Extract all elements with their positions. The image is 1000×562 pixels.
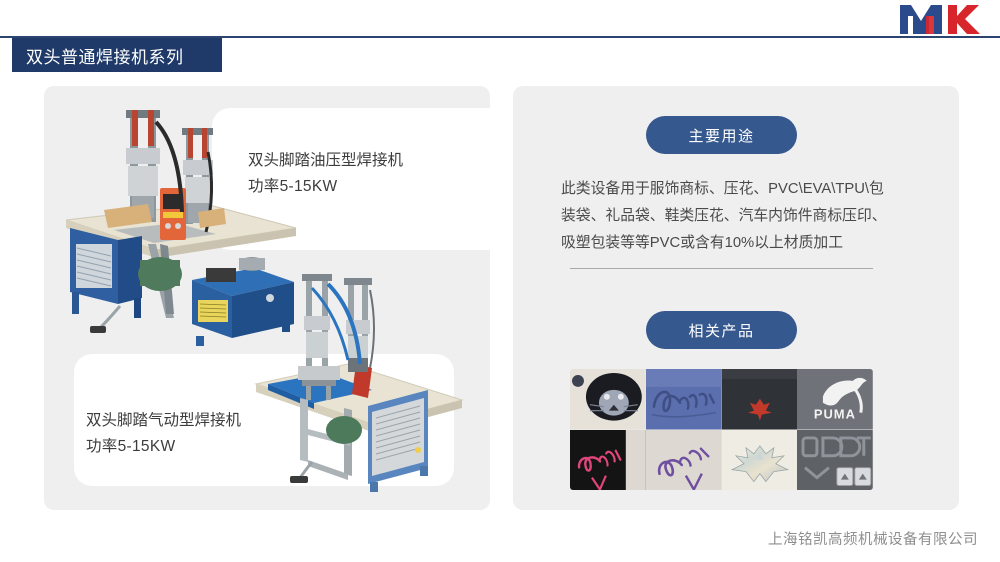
machine-power-hydraulic: 功率5-15KW	[248, 174, 403, 200]
page-title-banner: 双头普通焊接机系列	[12, 38, 222, 72]
product-sample-callaway-purple	[646, 430, 722, 491]
related-products-heading-pill: 相关产品	[646, 311, 797, 349]
page-title: 双头普通焊接机系列	[26, 43, 184, 68]
slide-root: 双头普通焊接机系列	[0, 0, 1000, 562]
usage-description-line-1: 此类设备用于服饰商标、压花、PVC\EVA\TPU\包	[561, 176, 921, 203]
product-sample-red-patch	[722, 369, 798, 430]
pneumatic-welding-machine-image	[252, 272, 488, 504]
machine-label-hydraulic: 双头脚踏油压型焊接机 功率5-15KW	[248, 148, 403, 200]
product-sample-callaway-pink	[570, 430, 646, 491]
svg-text:PUMA: PUMA	[814, 407, 856, 422]
product-sample-puma: PUMA	[797, 369, 873, 430]
usage-heading-label: 主要用途	[688, 125, 754, 146]
usage-description: 此类设备用于服饰商标、压花、PVC\EVA\TPU\包 装袋、礼品袋、鞋类压花、…	[561, 176, 921, 257]
product-sample-cynthia	[646, 369, 722, 430]
machine-label-pneumatic: 双头脚踏气动型焊接机 功率5-15KW	[86, 408, 241, 460]
mk-logo-icon	[898, 2, 982, 36]
product-sample-grid: PUMA	[570, 369, 873, 490]
product-sample-tiger	[570, 369, 646, 430]
usage-description-line-2: 装袋、礼品袋、鞋类压花、汽车内饰件商标压印、	[561, 203, 921, 230]
usage-heading-pill: 主要用途	[646, 116, 797, 154]
related-products-heading-label: 相关产品	[688, 320, 754, 341]
machine-name-pneumatic: 双头脚踏气动型焊接机	[86, 408, 241, 434]
product-sample-oddit	[797, 430, 873, 491]
product-sample-batman	[722, 430, 798, 491]
company-logo	[898, 2, 982, 36]
footer-company-name: 上海铭凯高频机械设备有限公司	[768, 528, 978, 549]
machine-name-hydraulic: 双头脚踏油压型焊接机	[248, 148, 403, 174]
machine-power-pneumatic: 功率5-15KW	[86, 434, 241, 460]
info-panel: 主要用途 此类设备用于服饰商标、压花、PVC\EVA\TPU\包 装袋、礼品袋、…	[513, 86, 959, 510]
usage-description-line-3: 吸塑包装等等PVC或含有10%以上材质加工	[561, 230, 921, 257]
section-divider	[570, 268, 873, 269]
